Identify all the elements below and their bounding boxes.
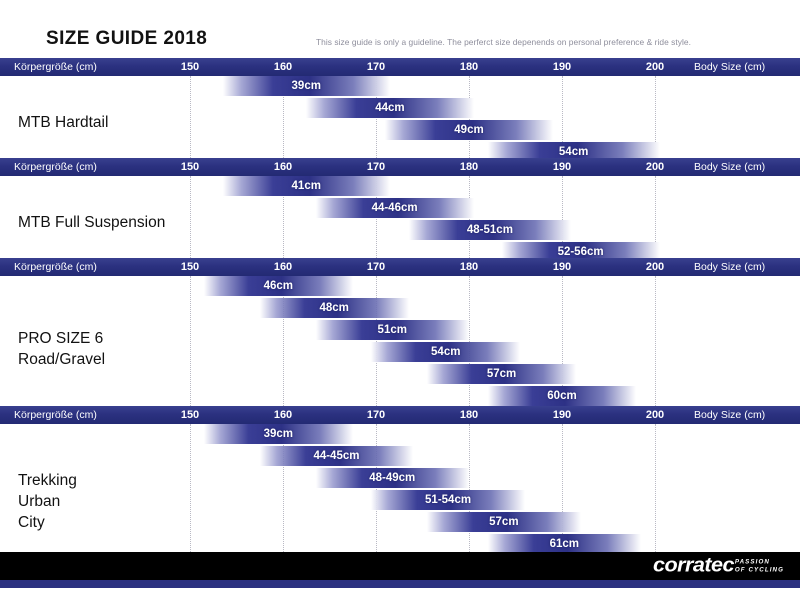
- range-bar: 51-54cm: [371, 490, 524, 510]
- range-bar-label: 51-54cm: [371, 490, 524, 510]
- axis-tick-200: 200: [646, 258, 664, 276]
- gridline-150: [190, 176, 192, 258]
- section-label: MTB Hardtail: [18, 112, 108, 133]
- range-bar: 48-51cm: [409, 220, 572, 240]
- axis-tick-180: 180: [460, 58, 478, 76]
- range-bar: 54cm: [371, 342, 520, 362]
- range-bar: 46cm: [204, 276, 353, 296]
- range-bar: 49cm: [385, 120, 552, 140]
- section-label: MTB Full Suspension: [18, 212, 165, 233]
- header-block: SIZE GUIDE 2018 This size guide is only …: [0, 0, 800, 58]
- section-label: Trekking Urban City: [18, 470, 77, 533]
- axis-label-left: Körpergröße (cm): [14, 58, 97, 76]
- axis-label-right: Body Size (cm): [694, 406, 765, 424]
- range-bar: 39cm: [223, 76, 390, 96]
- page-subtitle: This size guide is only a guideline. The…: [316, 37, 691, 47]
- axis-tick-180: 180: [460, 406, 478, 424]
- range-bar: 44-46cm: [316, 198, 474, 218]
- axis-label-right: Body Size (cm): [694, 158, 765, 176]
- range-bar-label: 44cm: [306, 98, 473, 118]
- range-bar: 57cm: [427, 512, 580, 532]
- axis-tick-160: 160: [274, 406, 292, 424]
- footer-black-bar: corratec PASSION OF CYCLING: [0, 552, 800, 580]
- axis-header-bar: Körpergröße (cm)Body Size (cm)1501601701…: [0, 158, 800, 176]
- gridline-180: [469, 424, 471, 554]
- range-bar-label: 39cm: [204, 424, 353, 444]
- axis-tick-150: 150: [181, 158, 199, 176]
- range-bar-label: 57cm: [427, 512, 580, 532]
- section-body-2: PRO SIZE 6 Road/Gravel46cm48cm51cm54cm57…: [0, 276, 800, 406]
- range-bar-label: 44-46cm: [316, 198, 474, 218]
- range-bar-label: 60cm: [488, 386, 637, 406]
- range-bar-label: 54cm: [371, 342, 520, 362]
- range-bar: 44-45cm: [260, 446, 413, 466]
- axis-tick-190: 190: [553, 58, 571, 76]
- axis-tick-150: 150: [181, 258, 199, 276]
- gridline-150: [190, 276, 192, 406]
- range-bar-label: 48-51cm: [409, 220, 572, 240]
- page-title: SIZE GUIDE 2018: [46, 28, 207, 50]
- logo-tagline-line1: PASSION: [735, 558, 784, 566]
- axis-tick-150: 150: [181, 58, 199, 76]
- logo-wordmark: corratec: [653, 555, 734, 578]
- axis-tick-150: 150: [181, 406, 199, 424]
- range-bar-label: 48-49cm: [316, 468, 469, 488]
- range-bar: 60cm: [488, 386, 637, 406]
- axis-tick-170: 170: [367, 258, 385, 276]
- range-bar-label: 57cm: [427, 364, 576, 384]
- axis-tick-190: 190: [553, 258, 571, 276]
- axis-label-left: Körpergröße (cm): [14, 258, 97, 276]
- section-label: PRO SIZE 6 Road/Gravel: [18, 328, 105, 370]
- axis-tick-190: 190: [553, 158, 571, 176]
- gridline-200: [655, 424, 657, 554]
- axis-label-right: Body Size (cm): [694, 58, 765, 76]
- range-bar: 39cm: [204, 424, 353, 444]
- range-bar: 48-49cm: [316, 468, 469, 488]
- axis-tick-200: 200: [646, 158, 664, 176]
- range-bar: 44cm: [306, 98, 473, 118]
- axis-tick-170: 170: [367, 158, 385, 176]
- logo-tagline: PASSION OF CYCLING: [735, 558, 784, 574]
- range-bar: 57cm: [427, 364, 576, 384]
- axis-tick-180: 180: [460, 258, 478, 276]
- range-bar: 48cm: [260, 298, 409, 318]
- axis-tick-160: 160: [274, 58, 292, 76]
- axis-tick-190: 190: [553, 406, 571, 424]
- range-bar: 41cm: [223, 176, 390, 196]
- gridline-170: [376, 424, 378, 554]
- axis-header-bar: Körpergröße (cm)Body Size (cm)1501601701…: [0, 406, 800, 424]
- range-bar-label: 51cm: [316, 320, 469, 340]
- logo-tagline-line2: OF CYCLING: [735, 566, 784, 574]
- axis-tick-170: 170: [367, 406, 385, 424]
- gridline-180: [469, 276, 471, 406]
- axis-tick-170: 170: [367, 58, 385, 76]
- size-guide-sheet: SIZE GUIDE 2018 This size guide is only …: [0, 0, 800, 600]
- axis-tick-160: 160: [274, 258, 292, 276]
- range-bar-label: 48cm: [260, 298, 409, 318]
- axis-tick-180: 180: [460, 158, 478, 176]
- gridline-150: [190, 76, 192, 158]
- axis-tick-160: 160: [274, 158, 292, 176]
- axis-tick-200: 200: [646, 406, 664, 424]
- range-bar-label: 44-45cm: [260, 446, 413, 466]
- range-bar: 51cm: [316, 320, 469, 340]
- section-body-0: MTB Hardtail39cm44cm49cm54cm: [0, 76, 800, 158]
- axis-label-right: Body Size (cm): [694, 258, 765, 276]
- section-body-3: Trekking Urban City39cm44-45cm48-49cm51-…: [0, 424, 800, 554]
- axis-header-bar: Körpergröße (cm)Body Size (cm)1501601701…: [0, 258, 800, 276]
- gridline-150: [190, 424, 192, 554]
- axis-label-left: Körpergröße (cm): [14, 158, 97, 176]
- footer-blue-bar: [0, 580, 800, 588]
- range-bar-label: 49cm: [385, 120, 552, 140]
- range-bar-label: 39cm: [223, 76, 390, 96]
- brand-logo: corratec PASSION OF CYCLING: [653, 555, 784, 578]
- gridline-200: [655, 276, 657, 406]
- range-bar-label: 41cm: [223, 176, 390, 196]
- gridline-170: [376, 276, 378, 406]
- range-bar-label: 46cm: [204, 276, 353, 296]
- range-bar-label: 61cm: [488, 534, 641, 554]
- axis-header-bar: Körpergröße (cm)Body Size (cm)1501601701…: [0, 58, 800, 76]
- section-body-1: MTB Full Suspension41cm44-46cm48-51cm52-…: [0, 176, 800, 258]
- axis-tick-200: 200: [646, 58, 664, 76]
- axis-label-left: Körpergröße (cm): [14, 406, 97, 424]
- range-bar: 61cm: [488, 534, 641, 554]
